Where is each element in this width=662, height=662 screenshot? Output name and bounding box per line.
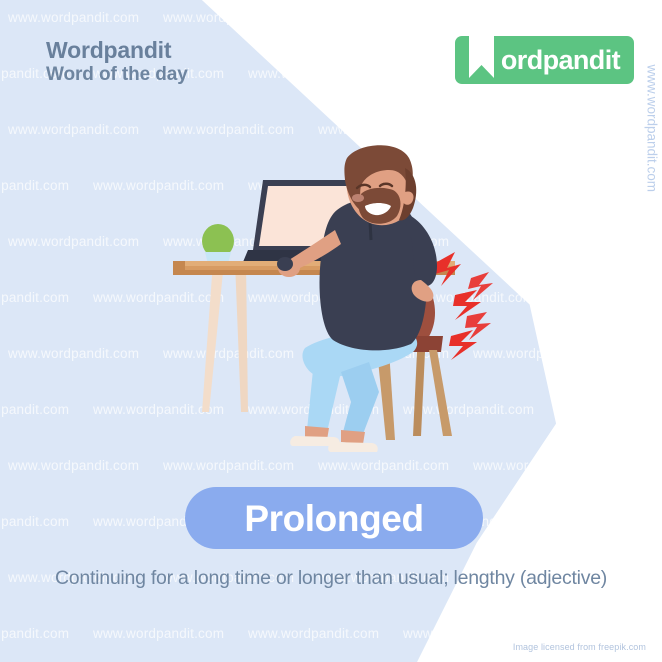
image-credit: Image licensed from freepik.com [513,642,646,652]
word-badge[interactable]: Prolonged [185,487,483,549]
wordpandit-logo[interactable]: ordpandit [455,36,634,84]
pain-indicator [435,252,493,360]
desk-plant [202,224,234,264]
back-pain-illustration [155,140,515,460]
word-of-the-day-card: www.wordpandit.comwww.wordpandit.comwww.… [0,0,662,662]
logo-text: ordpandit [501,47,620,74]
header: Wordpandit Word of the day [46,38,188,85]
word-definition: Continuing for a long time or longer tha… [0,567,662,590]
word-term: Prolonged [244,500,423,537]
desk-legs [202,262,248,412]
brand-name: Wordpandit [46,38,188,62]
brand-subtitle: Word of the day [46,65,188,85]
legs [290,331,417,452]
watermark-vertical: www.wordpandit.com [645,64,660,192]
bookmark-icon [469,28,494,78]
